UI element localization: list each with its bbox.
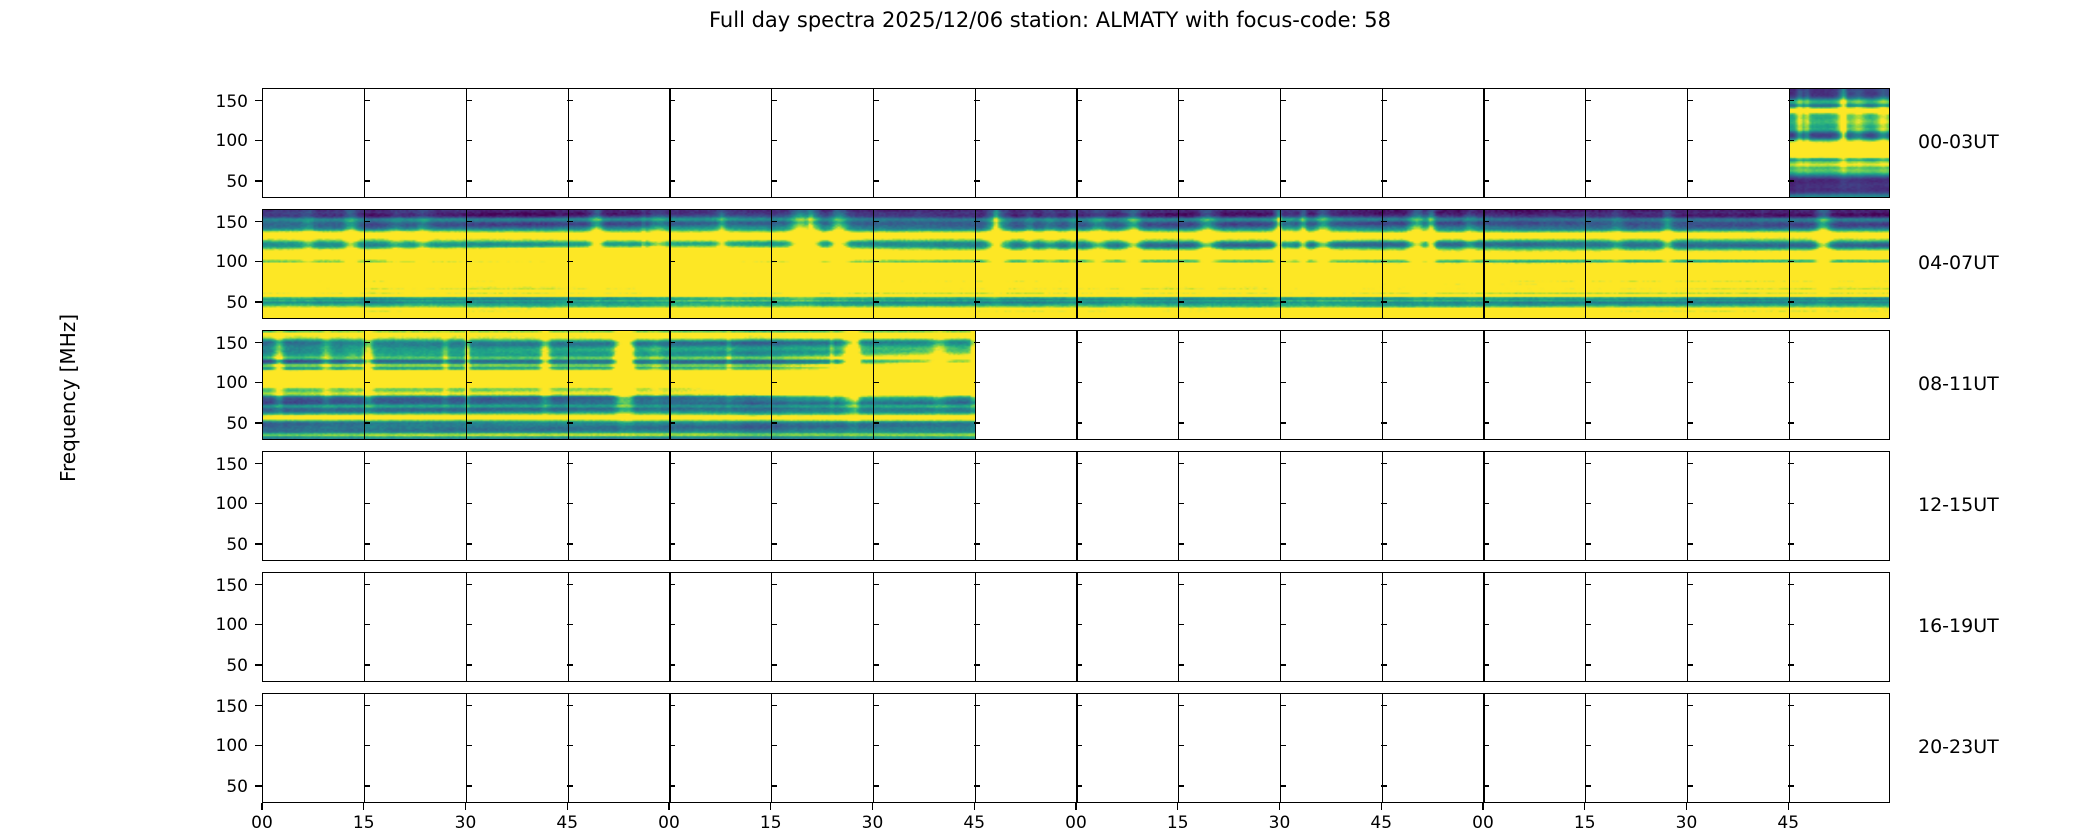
x-tick-label: 15 (1148, 815, 1208, 832)
y-tick-mark-inner (669, 422, 675, 423)
y-tick-mark-inner (1687, 463, 1693, 464)
y-tick-mark-inner (1280, 221, 1286, 222)
y-tick-mark-inner (1178, 503, 1184, 504)
y-tick-mark-inner (771, 503, 777, 504)
x-tick-mark (465, 803, 466, 810)
y-tick-mark-inner (1788, 100, 1794, 101)
y-tick-mark-inner (364, 664, 370, 665)
y-tick-mark-inner (1381, 705, 1387, 706)
y-tick-mark-inner (1381, 785, 1387, 786)
y-tick-mark-inner (1381, 301, 1387, 302)
y-tick-mark-inner (1483, 180, 1489, 181)
y-tick-mark-inner (974, 180, 980, 181)
x-tick-label: 30 (436, 815, 496, 832)
y-tick-mark-inner (771, 785, 777, 786)
x-tick-mark (363, 803, 364, 810)
y-tick-label: 100 (186, 736, 248, 756)
y-tick-mark-inner (1788, 382, 1794, 383)
y-tick-mark-inner (1687, 705, 1693, 706)
y-tick-mark-inner (1178, 543, 1184, 544)
x-tick-mark (1279, 803, 1280, 810)
y-tick-mark-inner (669, 221, 675, 222)
y-tick-mark-inner (1687, 503, 1693, 504)
y-tick-label: 150 (186, 576, 248, 596)
y-tick-mark-inner (1178, 422, 1184, 423)
y-tick-mark-inner (364, 463, 370, 464)
y-tick-mark-inner (567, 745, 573, 746)
y-tick-mark-inner (1178, 382, 1184, 383)
y-tick-mark-inner (364, 422, 370, 423)
y-tick-mark-inner (669, 261, 675, 262)
y-tick-mark-inner (1076, 463, 1082, 464)
y-tick-mark-inner (1585, 301, 1591, 302)
y-tick-mark-inner (1483, 624, 1489, 625)
x-tick-mark (1075, 803, 1076, 810)
y-tick-mark-inner (1483, 664, 1489, 665)
y-tick-mark-inner (771, 664, 777, 665)
y-tick-mark-inner (1076, 745, 1082, 746)
y-tick-mark-inner (873, 463, 879, 464)
y-tick-mark-inner (669, 664, 675, 665)
y-tick-mark-inner (1178, 463, 1184, 464)
y-tick-mark-inner (974, 463, 980, 464)
y-tick-mark-inner (771, 261, 777, 262)
y-tick-mark-inner (1788, 624, 1794, 625)
x-tick-label: 15 (741, 815, 801, 832)
y-tick-mark-inner (669, 342, 675, 343)
y-tick-mark-inner (364, 624, 370, 625)
y-tick-mark-inner (669, 705, 675, 706)
y-tick-mark-inner (1381, 342, 1387, 343)
y-tick-mark-inner (873, 140, 879, 141)
y-tick-mark-inner (1687, 100, 1693, 101)
y-tick-mark-inner (873, 745, 879, 746)
y-tick-mark (255, 422, 262, 423)
y-tick-label: 50 (186, 535, 248, 555)
y-tick-mark-inner (466, 261, 472, 262)
y-tick-mark-inner (974, 140, 980, 141)
y-tick-mark-inner (1178, 100, 1184, 101)
y-tick-mark-inner (1178, 180, 1184, 181)
spectrogram-image-row-3 (263, 331, 975, 439)
y-tick-mark-inner (567, 584, 573, 585)
y-tick-mark (255, 543, 262, 544)
x-tick-mark (872, 803, 873, 810)
y-tick-mark-inner (466, 221, 472, 222)
y-tick-mark-inner (1687, 624, 1693, 625)
y-tick-label: 50 (186, 293, 248, 313)
y-tick-mark-inner (364, 745, 370, 746)
y-tick-mark-inner (567, 624, 573, 625)
y-tick-mark-inner (364, 140, 370, 141)
y-tick-mark-inner (974, 543, 980, 544)
y-tick-label: 100 (186, 131, 248, 151)
spectrogram-canvas (263, 331, 975, 439)
y-tick-mark-inner (1788, 342, 1794, 343)
y-tick-mark-inner (567, 180, 573, 181)
y-tick-mark-inner (974, 221, 980, 222)
y-tick-mark-inner (771, 584, 777, 585)
y-tick-mark-inner (1381, 382, 1387, 383)
y-tick-mark-inner (974, 503, 980, 504)
y-tick-mark-inner (567, 503, 573, 504)
y-tick-mark-inner (1076, 180, 1082, 181)
x-tick-mark (974, 803, 975, 810)
y-tick-mark-inner (771, 463, 777, 464)
y-tick-mark (255, 624, 262, 625)
y-tick-mark-inner (567, 221, 573, 222)
x-tick-label: 00 (639, 815, 699, 832)
y-tick-mark-inner (1483, 261, 1489, 262)
y-tick-mark-inner (1585, 785, 1591, 786)
y-tick-mark (255, 100, 262, 101)
x-tick-label: 15 (1555, 815, 1615, 832)
y-tick-mark-inner (1280, 422, 1286, 423)
y-tick-mark-inner (1483, 705, 1489, 706)
y-tick-mark-inner (873, 100, 879, 101)
y-tick-mark-inner (1788, 584, 1794, 585)
y-tick-mark-inner (1687, 180, 1693, 181)
y-tick-label: 50 (186, 656, 248, 676)
y-tick-mark-inner (567, 140, 573, 141)
y-tick-mark-inner (974, 705, 980, 706)
y-tick-mark-inner (771, 180, 777, 181)
y-tick-mark-inner (1076, 584, 1082, 585)
y-tick-label: 100 (186, 373, 248, 393)
y-tick-mark-inner (1585, 422, 1591, 423)
y-tick-mark-inner (669, 584, 675, 585)
y-tick-mark-inner (1687, 261, 1693, 262)
y-tick-mark-inner (1788, 503, 1794, 504)
y-tick-mark-inner (873, 382, 879, 383)
y-tick-mark-inner (1483, 221, 1489, 222)
y-tick-mark-inner (1687, 301, 1693, 302)
y-tick-mark (255, 503, 262, 504)
y-tick-mark-inner (466, 180, 472, 181)
y-tick-mark-inner (771, 543, 777, 544)
y-tick-mark-inner (1280, 624, 1286, 625)
y-tick-mark-inner (466, 503, 472, 504)
y-tick-label: 50 (186, 414, 248, 434)
y-tick-mark-inner (1076, 664, 1082, 665)
y-tick-label: 150 (186, 455, 248, 475)
y-tick-mark-inner (669, 140, 675, 141)
y-tick-mark-inner (1076, 342, 1082, 343)
y-tick-mark-inner (1381, 221, 1387, 222)
y-tick-mark-inner (1178, 221, 1184, 222)
y-tick-mark-inner (567, 664, 573, 665)
y-tick-mark-inner (873, 624, 879, 625)
y-tick-mark-inner (1280, 261, 1286, 262)
y-tick-mark-inner (1788, 664, 1794, 665)
x-tick-mark (261, 803, 262, 810)
y-tick-mark-inner (1788, 301, 1794, 302)
y-tick-mark-inner (1280, 342, 1286, 343)
y-tick-mark-inner (1076, 422, 1082, 423)
y-tick-mark-inner (1585, 140, 1591, 141)
x-tick-label: 45 (944, 815, 1004, 832)
y-tick-mark-inner (1381, 100, 1387, 101)
y-tick-label: 100 (186, 494, 248, 514)
y-tick-mark-inner (1280, 584, 1286, 585)
y-tick-mark-inner (771, 624, 777, 625)
y-tick-mark-inner (1381, 624, 1387, 625)
x-tick-label: 00 (1453, 815, 1513, 832)
x-tick-mark (567, 803, 568, 810)
y-tick-mark-inner (1687, 221, 1693, 222)
y-tick-mark-inner (1585, 382, 1591, 383)
y-tick-label: 150 (186, 92, 248, 112)
y-tick-mark-inner (873, 221, 879, 222)
spectrogram-image-row-1 (1789, 89, 1890, 197)
y-tick-mark-inner (1687, 342, 1693, 343)
y-tick-mark-inner (1280, 301, 1286, 302)
y-tick-mark-inner (1076, 301, 1082, 302)
y-tick-mark-inner (466, 584, 472, 585)
y-tick-mark-inner (1178, 624, 1184, 625)
y-tick-mark-inner (669, 624, 675, 625)
y-tick-mark-inner (669, 785, 675, 786)
y-tick-mark-inner (1687, 422, 1693, 423)
y-tick-mark-inner (1280, 664, 1286, 665)
y-tick-mark-inner (1483, 140, 1489, 141)
y-tick-label: 150 (186, 334, 248, 354)
y-tick-mark-inner (1687, 664, 1693, 665)
x-tick-mark (1381, 803, 1382, 810)
y-tick-mark-inner (771, 342, 777, 343)
y-tick-label: 150 (186, 697, 248, 717)
row-caption-20-23ut: 20-23UT (1918, 738, 2098, 757)
y-tick-mark-inner (567, 342, 573, 343)
y-tick-mark-inner (1280, 503, 1286, 504)
y-tick-label: 50 (186, 777, 248, 797)
y-tick-mark-inner (974, 584, 980, 585)
y-tick-mark-inner (771, 705, 777, 706)
y-tick-mark-inner (364, 503, 370, 504)
y-tick-mark-inner (364, 342, 370, 343)
y-tick-mark (255, 785, 262, 786)
y-tick-mark (255, 382, 262, 383)
y-tick-mark-inner (1788, 785, 1794, 786)
y-tick-mark-inner (1585, 180, 1591, 181)
x-tick-mark (668, 803, 669, 810)
y-tick-mark-inner (974, 100, 980, 101)
y-tick-mark-inner (1687, 543, 1693, 544)
y-tick-mark (255, 705, 262, 706)
y-tick-mark-inner (873, 705, 879, 706)
y-tick-mark-inner (1381, 584, 1387, 585)
row-caption-12-15ut: 12-15UT (1918, 496, 2098, 515)
x-tick-mark (1686, 803, 1687, 810)
y-tick-mark-inner (873, 785, 879, 786)
y-tick-mark-inner (466, 745, 472, 746)
spectrogram-figure: Full day spectra 2025/12/06 station: ALM… (0, 0, 2100, 800)
y-tick-mark-inner (1381, 140, 1387, 141)
y-tick-mark-inner (1381, 745, 1387, 746)
y-tick-mark-inner (1788, 180, 1794, 181)
y-tick-mark-inner (873, 180, 879, 181)
y-tick-mark-inner (1483, 100, 1489, 101)
row-caption-08-11ut: 08-11UT (1918, 375, 2098, 394)
row-caption-16-19ut: 16-19UT (1918, 617, 2098, 636)
y-tick-mark-inner (567, 543, 573, 544)
y-tick-mark-inner (1076, 261, 1082, 262)
y-tick-mark-inner (1585, 503, 1591, 504)
y-tick-label: 50 (186, 172, 248, 192)
y-tick-mark-inner (1585, 705, 1591, 706)
y-tick-mark-inner (1585, 543, 1591, 544)
y-tick-mark-inner (771, 140, 777, 141)
x-tick-label: 30 (1250, 815, 1310, 832)
y-tick-mark-inner (873, 543, 879, 544)
y-tick-mark-inner (1280, 543, 1286, 544)
y-tick-mark-inner (1178, 664, 1184, 665)
y-tick-label: 100 (186, 615, 248, 635)
y-tick-mark-inner (1788, 422, 1794, 423)
y-tick-mark (255, 664, 262, 665)
y-tick-mark-inner (1280, 463, 1286, 464)
y-tick-mark-inner (364, 221, 370, 222)
y-tick-mark-inner (1788, 463, 1794, 464)
y-tick-mark-inner (771, 745, 777, 746)
y-tick-mark-inner (1280, 745, 1286, 746)
y-tick-mark-inner (1280, 140, 1286, 141)
y-tick-mark-inner (567, 422, 573, 423)
y-tick-mark-inner (1381, 422, 1387, 423)
x-tick-label: 45 (1351, 815, 1411, 832)
y-tick-mark-inner (1076, 624, 1082, 625)
y-tick-mark-inner (1788, 140, 1794, 141)
y-tick-mark-inner (1076, 543, 1082, 544)
row-caption-04-07ut: 04-07UT (1918, 254, 2098, 273)
y-axis-title: Frequency [MHz] (56, 268, 80, 528)
y-tick-mark-inner (1687, 785, 1693, 786)
x-tick-mark (1788, 803, 1789, 810)
y-tick-mark-inner (466, 463, 472, 464)
y-tick-mark-inner (771, 100, 777, 101)
y-tick-mark-inner (873, 301, 879, 302)
y-tick-mark-inner (1076, 382, 1082, 383)
x-tick-label: 00 (1046, 815, 1106, 832)
y-tick-mark-inner (364, 705, 370, 706)
y-tick-mark-inner (1076, 221, 1082, 222)
y-tick-mark (255, 584, 262, 585)
y-tick-mark-inner (1585, 624, 1591, 625)
y-tick-mark-inner (364, 180, 370, 181)
y-tick-mark-inner (364, 382, 370, 383)
x-tick-mark (770, 803, 771, 810)
y-tick-mark-inner (466, 301, 472, 302)
x-tick-label: 45 (537, 815, 597, 832)
y-tick-mark-inner (669, 745, 675, 746)
y-tick-mark-inner (771, 221, 777, 222)
y-tick-mark-inner (974, 664, 980, 665)
y-tick-mark-inner (1381, 180, 1387, 181)
x-tick-label: 00 (232, 815, 292, 832)
y-tick-mark-inner (669, 503, 675, 504)
y-tick-mark-inner (466, 705, 472, 706)
y-tick-mark-inner (1585, 100, 1591, 101)
y-tick-mark-inner (1178, 342, 1184, 343)
y-tick-mark (255, 301, 262, 302)
y-tick-label: 150 (186, 213, 248, 233)
y-tick-mark-inner (466, 624, 472, 625)
x-tick-label: 30 (1657, 815, 1717, 832)
y-tick-mark (255, 745, 262, 746)
y-tick-mark-inner (669, 100, 675, 101)
y-tick-mark-inner (669, 301, 675, 302)
y-tick-mark-inner (1178, 140, 1184, 141)
y-tick-mark-inner (873, 503, 879, 504)
y-tick-mark-inner (1076, 503, 1082, 504)
y-tick-mark-inner (1178, 785, 1184, 786)
y-tick-mark-inner (1381, 261, 1387, 262)
y-tick-mark-inner (466, 422, 472, 423)
x-tick-label: 45 (1758, 815, 1818, 832)
y-tick-mark-inner (1280, 785, 1286, 786)
y-tick-mark-inner (1483, 543, 1489, 544)
y-tick-mark-inner (466, 382, 472, 383)
y-tick-mark-inner (1585, 261, 1591, 262)
y-tick-mark-inner (364, 301, 370, 302)
y-tick-mark-inner (567, 100, 573, 101)
y-tick-mark (255, 140, 262, 141)
y-tick-mark-inner (974, 422, 980, 423)
y-tick-mark-inner (1585, 745, 1591, 746)
y-tick-mark-inner (1585, 664, 1591, 665)
row-caption-00-03ut: 00-03UT (1918, 133, 2098, 152)
y-tick-mark-inner (364, 785, 370, 786)
y-tick-mark-inner (364, 100, 370, 101)
y-tick-mark-inner (364, 543, 370, 544)
y-tick-mark-inner (567, 463, 573, 464)
y-tick-mark-inner (669, 180, 675, 181)
y-tick-mark-inner (974, 261, 980, 262)
y-tick-mark-inner (1483, 503, 1489, 504)
y-tick-mark-inner (364, 261, 370, 262)
y-tick-mark-inner (567, 705, 573, 706)
y-tick-mark-inner (974, 301, 980, 302)
y-tick-mark-inner (1585, 584, 1591, 585)
y-tick-mark-inner (1280, 705, 1286, 706)
y-tick-mark-inner (1585, 221, 1591, 222)
y-tick-mark-inner (1483, 785, 1489, 786)
y-tick-mark-inner (771, 422, 777, 423)
y-tick-mark-inner (974, 785, 980, 786)
y-tick-mark-inner (466, 342, 472, 343)
y-tick-mark-inner (974, 382, 980, 383)
y-tick-mark-inner (873, 584, 879, 585)
y-tick-mark-inner (1178, 705, 1184, 706)
y-tick-mark-inner (873, 342, 879, 343)
y-tick-mark-inner (1585, 342, 1591, 343)
y-tick-mark-inner (1687, 584, 1693, 585)
y-tick-mark-inner (1687, 745, 1693, 746)
y-tick-mark-inner (669, 382, 675, 383)
y-tick-mark-inner (1381, 664, 1387, 665)
y-tick-mark-inner (1585, 463, 1591, 464)
y-tick-mark-inner (1381, 463, 1387, 464)
y-tick-mark (255, 463, 262, 464)
y-tick-mark-inner (1381, 543, 1387, 544)
y-tick-mark-inner (1788, 745, 1794, 746)
y-tick-mark-inner (1788, 261, 1794, 262)
x-tick-label: 15 (334, 815, 394, 832)
y-tick-mark-inner (1280, 100, 1286, 101)
y-tick-mark-inner (873, 664, 879, 665)
y-tick-mark-inner (466, 543, 472, 544)
y-tick-mark (255, 180, 262, 181)
